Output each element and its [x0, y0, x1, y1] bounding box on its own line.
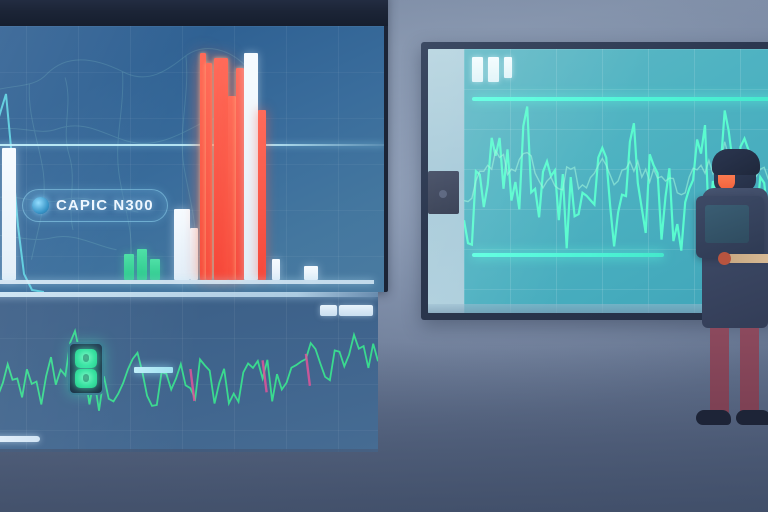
- bar-6[interactable]: [190, 228, 198, 280]
- globe-icon: [32, 197, 49, 214]
- leg-right: [740, 322, 759, 417]
- panel-chip-b[interactable]: [320, 305, 337, 316]
- world-map-contour: [0, 26, 384, 289]
- bar-15[interactable]: [304, 266, 318, 280]
- left-spike-line: [0, 86, 44, 292]
- tab-1[interactable]: [472, 57, 483, 82]
- scene-root: CAPIC N300: [0, 0, 768, 512]
- bar-12[interactable]: [244, 53, 258, 280]
- candlestick-panel[interactable]: [0, 292, 378, 452]
- bar-9[interactable]: [214, 58, 228, 280]
- screen-surface[interactable]: CAPIC N300: [0, 26, 384, 292]
- panel-top-edge: [0, 292, 378, 297]
- horizontal-scrollbar[interactable]: [0, 436, 40, 442]
- bar-5[interactable]: [174, 209, 190, 280]
- bar-3[interactable]: [137, 249, 147, 280]
- status-toggle[interactable]: [68, 342, 104, 395]
- analyst-figure: [688, 152, 768, 442]
- tab-2[interactable]: [488, 57, 499, 82]
- candlestick-series-down: [306, 354, 310, 386]
- bar-10[interactable]: [228, 96, 236, 280]
- dot-icon: [439, 190, 447, 198]
- candlestick-series-down: [263, 360, 267, 392]
- tablet-screen: [705, 205, 749, 243]
- threshold-line: [0, 144, 384, 146]
- bar-1[interactable]: [2, 148, 16, 280]
- ticker-label-text: CAPIC N300: [56, 197, 154, 214]
- bar-chart[interactable]: [0, 44, 384, 280]
- chart-baseline: [0, 280, 374, 284]
- menu-button[interactable]: [428, 171, 459, 214]
- bar-11[interactable]: [236, 68, 244, 280]
- arm: [726, 254, 768, 263]
- leg-left: [710, 322, 729, 417]
- shoe-right: [736, 410, 768, 425]
- screen-title-bar: [0, 0, 388, 26]
- bar-7[interactable]: [200, 53, 206, 280]
- bar-14[interactable]: [272, 259, 280, 280]
- candlestick-chart[interactable]: [0, 292, 378, 452]
- monitor-tab-strip[interactable]: [472, 57, 512, 82]
- hair: [712, 149, 760, 175]
- bar-2[interactable]: [124, 254, 134, 280]
- mid-threshold-line: [472, 253, 664, 257]
- upper-threshold-line: [472, 97, 768, 101]
- candlestick-series-down: [190, 369, 194, 401]
- bar-13[interactable]: [258, 110, 266, 280]
- bar-4[interactable]: [150, 259, 160, 280]
- panel-chip-a[interactable]: [339, 305, 373, 316]
- shoe-left: [696, 410, 731, 425]
- tab-3[interactable]: [504, 57, 512, 78]
- tablet-device: [696, 196, 764, 258]
- market-overview-screen[interactable]: CAPIC N300: [0, 0, 388, 292]
- panel-bottom-edge: [0, 449, 378, 452]
- monitor-sidebar[interactable]: [428, 49, 464, 313]
- bar-8[interactable]: [206, 63, 212, 280]
- ticker-label-pill[interactable]: CAPIC N300: [22, 189, 168, 222]
- candlestick-series-up: [0, 331, 378, 411]
- price-level-marker: [134, 367, 173, 373]
- chart-gridlines: [0, 26, 384, 292]
- candlestick-gridlines: [0, 292, 378, 452]
- status-toggle-cell-top[interactable]: [75, 349, 97, 368]
- status-toggle-cell-bottom[interactable]: [75, 369, 97, 388]
- hand: [718, 252, 731, 265]
